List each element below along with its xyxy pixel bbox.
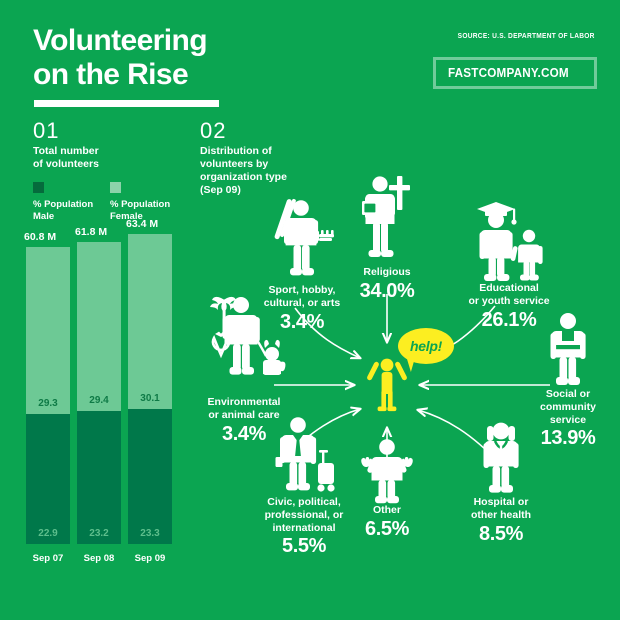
bar-value-female: 30.1 [128, 393, 172, 404]
legend-label-male: % Population Male [33, 199, 93, 222]
stacked-bar[interactable]: 29.423.2 [77, 242, 121, 544]
bar-value-male: 23.3 [128, 528, 172, 539]
bar-segment-female [77, 242, 121, 411]
help-text: help! [410, 338, 442, 354]
node-sport: Sport, hobby, cultural, or arts 3.4% [240, 198, 364, 334]
bar-value-male: 23.2 [77, 528, 121, 539]
node-hospital-percent: 8.5% [450, 523, 552, 547]
bar-x-label: Sep 09 [128, 553, 172, 564]
node-civic-percent: 5.5% [240, 535, 368, 559]
bar-value-male: 22.9 [26, 528, 70, 539]
bar-segment-male [26, 414, 70, 544]
educational-figure [450, 194, 568, 282]
stacked-bar[interactable]: 30.123.3 [128, 234, 172, 544]
node-hospital: Hospital or other health 8.5% [450, 420, 552, 546]
bar-value-female: 29.3 [26, 398, 70, 409]
volunteer-figure-icon [364, 356, 410, 412]
volunteers-bar-chart: 60.8 M29.322.9Sep 0761.8 M29.423.2Sep 08… [26, 236, 176, 588]
section-02-number: 02 [200, 120, 330, 142]
nurse-with-stethoscope-icon [473, 420, 529, 496]
person-with-bat-and-trumpet-icon [267, 198, 337, 284]
node-environmental-caption: Environmental or animal care [184, 396, 304, 422]
legend-item-male: % Population Male [33, 182, 93, 222]
title-divider [34, 100, 219, 107]
node-hospital-caption: Hospital or other health [450, 496, 552, 522]
bar-total-label: 63.4 M [126, 218, 158, 230]
source-credit: SOURCE: U.S. DEPARTMENT OF LABOR [458, 31, 595, 40]
legend-swatch-male [33, 182, 44, 193]
section-01-number: 01 [33, 120, 99, 142]
fastcompany-logo[interactable]: FASTCOMPANY.COM [433, 57, 597, 89]
social-figure [522, 312, 614, 388]
logo-label: FASTCOMPANY.COM [448, 65, 569, 80]
node-educational-caption: Educational or youth service [450, 282, 568, 308]
bar-segment-female [26, 247, 70, 414]
bar-segment-male [128, 409, 172, 544]
bar-x-label: Sep 08 [77, 553, 121, 564]
organization-type-diagram: help! [178, 176, 614, 602]
bar-group: 60.8 M29.322.9Sep 07 [26, 247, 70, 566]
bar-value-female: 29.4 [77, 395, 121, 406]
page-title: Volunteering on the Rise [33, 24, 207, 91]
legend-item-female: % Population Female [110, 182, 170, 222]
section-01: 01 Total number of volunteers [33, 120, 99, 171]
graduate-with-child-icon [469, 194, 549, 282]
node-sport-caption: Sport, hobby, cultural, or arts [240, 284, 364, 310]
node-sport-percent: 3.4% [240, 311, 364, 335]
person-with-safety-vest-icon [541, 312, 595, 388]
node-civic-caption: Civic, political, professional, or inter… [240, 496, 368, 534]
hospital-figure [450, 420, 552, 496]
bar-group: 61.8 M29.423.2Sep 08 [77, 242, 121, 566]
bar-x-label: Sep 07 [26, 553, 70, 564]
person-with-cross-and-book-icon [356, 174, 418, 266]
bar-total-label: 61.8 M [75, 226, 107, 238]
sport-figure [240, 198, 364, 284]
infographic-canvas: Volunteering on the Rise SOURCE: U.S. DE… [0, 0, 620, 620]
bar-segment-male [77, 411, 121, 544]
center-volunteer [364, 356, 410, 412]
bar-segment-female [128, 234, 172, 409]
section-01-subtitle: Total number of volunteers [33, 145, 99, 171]
node-environmental-percent: 3.4% [184, 423, 304, 447]
bar-group: 63.4 M30.123.3Sep 09 [128, 234, 172, 566]
bar-total-label: 60.8 M [24, 231, 56, 243]
stacked-bar[interactable]: 29.322.9 [26, 247, 70, 544]
legend-swatch-female [110, 182, 121, 193]
